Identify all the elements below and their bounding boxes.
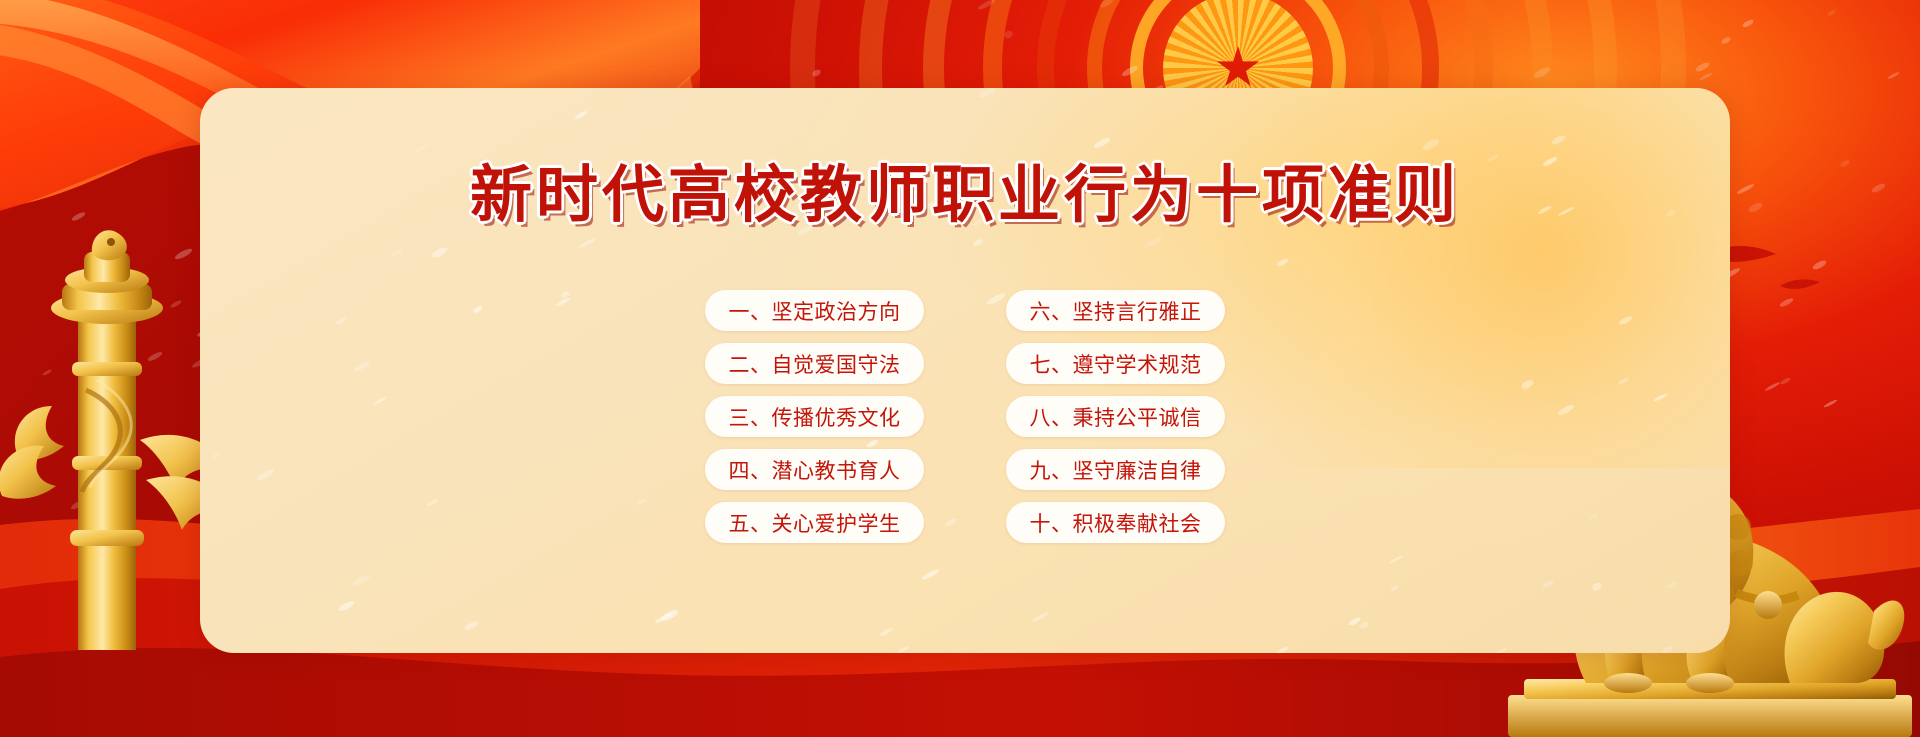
principle-item-6[interactable]: 六、坚持言行雅正 — [1006, 290, 1225, 331]
principle-item-9[interactable]: 九、坚守廉洁自律 — [1006, 449, 1225, 490]
principles-grid: 一、坚定政治方向 二、自觉爱国守法 三、传播优秀文化 四、潜心教书育人 五、关心… — [200, 290, 1730, 543]
principles-column-left: 一、坚定政治方向 二、自觉爱国守法 三、传播优秀文化 四、潜心教书育人 五、关心… — [705, 290, 924, 543]
principle-item-1[interactable]: 一、坚定政治方向 — [705, 290, 924, 331]
principle-item-10[interactable]: 十、积极奉献社会 — [1006, 502, 1225, 543]
principle-item-8[interactable]: 八、秉持公平诚信 — [1006, 396, 1225, 437]
banner-poster: 新时代高校教师职业行为十项准则 一、坚定政治方向 二、自觉爱国守法 三、传播优秀… — [0, 0, 1920, 737]
principle-item-4[interactable]: 四、潜心教书育人 — [705, 449, 924, 490]
content-panel: 新时代高校教师职业行为十项准则 一、坚定政治方向 二、自觉爱国守法 三、传播优秀… — [200, 88, 1730, 653]
page-title: 新时代高校教师职业行为十项准则 — [200, 144, 1730, 234]
principles-column-right: 六、坚持言行雅正 七、遵守学术规范 八、秉持公平诚信 九、坚守廉洁自律 十、积极… — [1006, 290, 1225, 543]
principle-item-7[interactable]: 七、遵守学术规范 — [1006, 343, 1225, 384]
principle-item-3[interactable]: 三、传播优秀文化 — [705, 396, 924, 437]
principle-item-2[interactable]: 二、自觉爱国守法 — [705, 343, 924, 384]
principle-item-5[interactable]: 五、关心爱护学生 — [705, 502, 924, 543]
